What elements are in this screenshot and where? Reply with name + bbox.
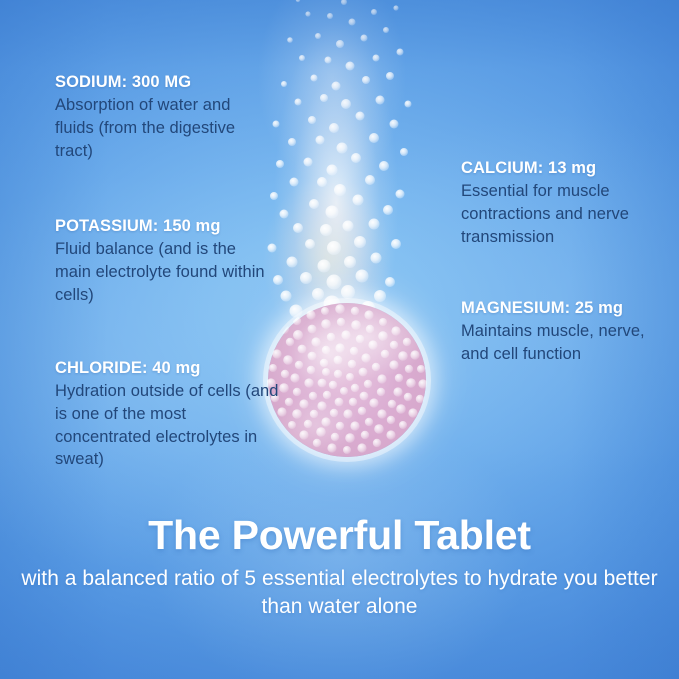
fact-sodium-title: SODIUM: 300 MG <box>55 72 267 93</box>
fact-magnesium-title: MAGNESIUM: 25 mg <box>461 298 666 319</box>
fact-calcium-body: Essential for muscle contractions and ne… <box>461 180 661 248</box>
footer-title: The Powerful Tablet <box>0 513 679 559</box>
fact-chloride-body: Hydration outside of cells (and is one o… <box>55 380 280 470</box>
footer-headline-block: The Powerful Tablet with a balanced rati… <box>0 513 679 620</box>
fact-magnesium-body: Maintains muscle, nerve, and cell functi… <box>461 320 666 365</box>
fact-potassium-title: POTASSIUM: 150 mg <box>55 216 267 237</box>
fact-sodium: SODIUM: 300 MG Absorption of water and f… <box>55 72 267 162</box>
fact-calcium-title: CALCIUM: 13 mg <box>461 158 661 179</box>
fact-calcium: CALCIUM: 13 mg Essential for muscle cont… <box>461 158 661 248</box>
fact-potassium-body: Fluid balance (and is the main electroly… <box>55 238 267 306</box>
fact-sodium-body: Absorption of water and fluids (from the… <box>55 94 267 162</box>
fact-magnesium: MAGNESIUM: 25 mg Maintains muscle, nerve… <box>461 298 666 366</box>
footer-subtitle: with a balanced ratio of 5 essential ele… <box>0 565 679 620</box>
fact-chloride: CHLORIDE: 40 mg Hydration outside of cel… <box>55 358 280 471</box>
electrolyte-infographic-poster: SODIUM: 300 MG Absorption of water and f… <box>0 0 679 679</box>
fact-chloride-title: CHLORIDE: 40 mg <box>55 358 280 379</box>
fact-potassium: POTASSIUM: 150 mg Fluid balance (and is … <box>55 216 267 306</box>
